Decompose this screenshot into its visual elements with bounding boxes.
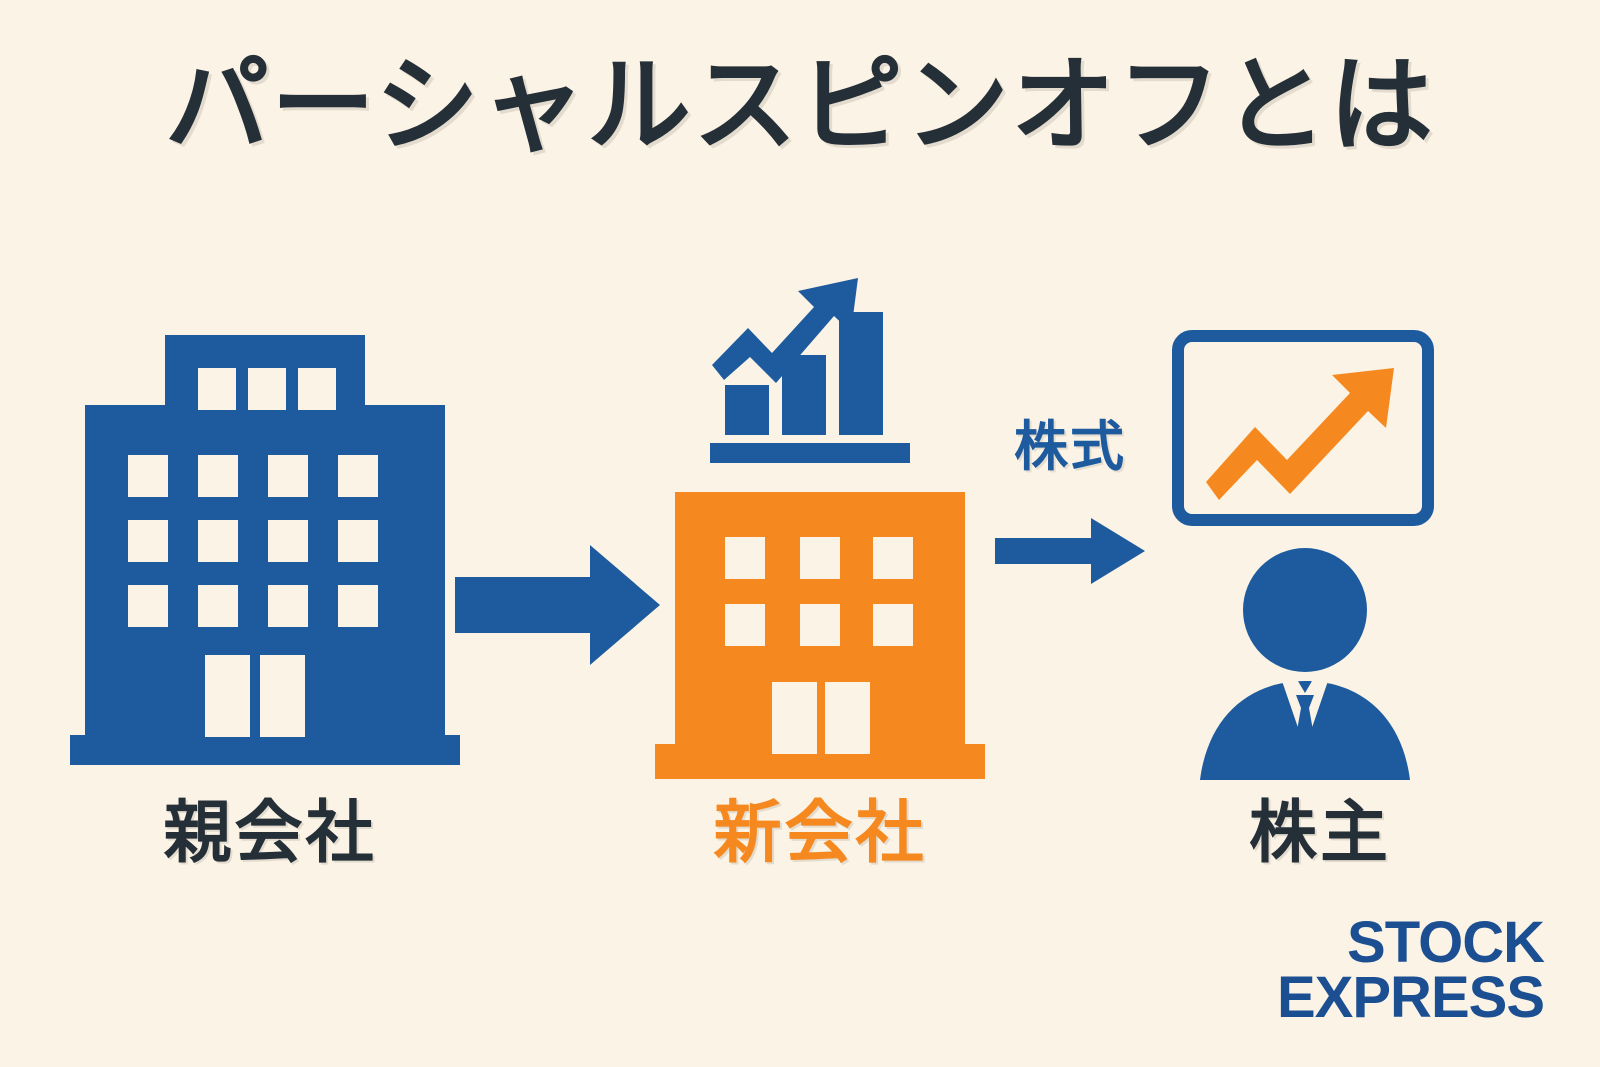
arrow-parent-to-newco xyxy=(455,545,660,665)
arrow-newco-to-shareholder xyxy=(995,518,1145,584)
page-title: パーシャルスピンオフとは xyxy=(0,46,1600,166)
infographic-canvas: パーシャルスピンオフとは xyxy=(0,0,1600,1067)
framed-rising-chart-icon xyxy=(1172,330,1434,526)
arrow-label-kabushiki: 株式 xyxy=(975,420,1165,474)
new-company-building-icon xyxy=(655,492,985,779)
label-parent-company: 親会社 xyxy=(60,800,480,868)
bar-chart-growth-icon xyxy=(710,250,910,465)
logo-line-1: STOCK xyxy=(1277,915,1544,970)
shareholder-person-icon xyxy=(1190,548,1420,780)
parent-company-building-icon xyxy=(70,335,460,765)
label-shareholder: 株主 xyxy=(1140,800,1500,868)
logo-line-2: EXPRESS xyxy=(1277,970,1544,1025)
label-new-company: 新会社 xyxy=(640,800,1000,868)
stock-express-logo: STOCK EXPRESS xyxy=(1277,915,1544,1025)
